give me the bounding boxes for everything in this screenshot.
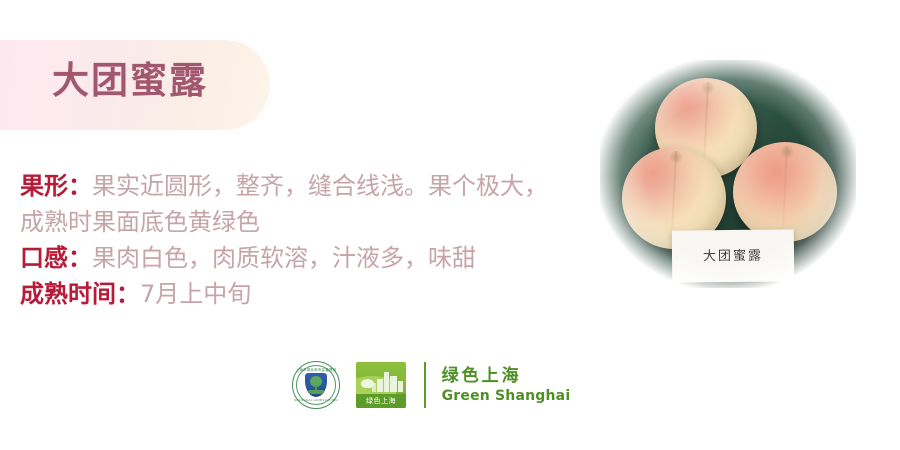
product-photo-image: 大团蜜露 bbox=[600, 60, 856, 288]
description-label-taste: 口感： bbox=[20, 244, 92, 272]
photo-label-card: 大团蜜露 bbox=[672, 229, 795, 282]
photo-label-card-text: 大团蜜露 bbox=[672, 244, 794, 264]
description-label-ripening-time: 成熟时间： bbox=[20, 280, 140, 308]
government-seal-icon: 上海市绿化和市容管理局 SHANGHAI LANDSCAPING bbox=[292, 361, 340, 409]
logo-caption: 绿色上海 bbox=[356, 394, 406, 408]
logo-building-icon bbox=[398, 381, 403, 392]
description-value-ripening-time: 7月上中旬 bbox=[140, 280, 251, 308]
peach-fruit bbox=[733, 142, 837, 242]
footer-branding: 上海市绿化和市容管理局 SHANGHAI LANDSCAPING 绿色上海 绿色… bbox=[292, 360, 570, 410]
seal-arc-bottom-text: SHANGHAI LANDSCAPING bbox=[293, 399, 339, 402]
seal-wave-icon bbox=[308, 390, 324, 394]
description-item-ripening-time: 成熟时间：7月上中旬 bbox=[20, 276, 560, 312]
description-item-fruit-shape: 果形：果实近圆形，整齐，缝合线浅。果个极大，成熟时果面底色黄绿色 bbox=[20, 168, 560, 240]
logo-building-icon bbox=[390, 376, 397, 392]
product-photo: 大团蜜露 bbox=[600, 60, 856, 288]
description-label-fruit-shape: 果形： bbox=[20, 172, 92, 200]
description-item-taste: 口感：果肉白色，肉质软溶，汁液多，味甜 bbox=[20, 240, 560, 276]
brand-name-chinese: 绿色上海 bbox=[442, 365, 571, 387]
description-value-taste: 果肉白色，肉质软溶，汁液多，味甜 bbox=[92, 244, 476, 272]
poster-root: 大团蜜露 果形：果实近圆形，整齐，缝合线浅。果个极大，成熟时果面底色黄绿色 口感… bbox=[0, 0, 900, 450]
brand-name-english: Green Shanghai bbox=[442, 387, 571, 405]
page-title: 大团蜜露 bbox=[52, 62, 208, 99]
description-block: 果形：果实近圆形，整齐，缝合线浅。果个极大，成熟时果面底色黄绿色 口感：果肉白色… bbox=[20, 168, 560, 312]
logo-tree-icon bbox=[361, 379, 374, 388]
peach-suture-line bbox=[671, 151, 677, 235]
brand-text-block: 绿色上海 Green Shanghai bbox=[442, 365, 571, 405]
green-shanghai-logo-icon: 绿色上海 bbox=[356, 362, 406, 408]
logo-building-icon bbox=[377, 379, 383, 392]
description-value-fruit-shape: 果实近圆形，整齐，缝合线浅。果个极大，成熟时果面底色黄绿色 bbox=[20, 172, 548, 236]
footer-divider bbox=[424, 362, 426, 408]
peach-suture-line bbox=[703, 82, 709, 164]
logo-building-icon bbox=[384, 372, 389, 392]
peach-suture-line bbox=[782, 146, 788, 228]
seal-arc-top-text: 上海市绿化和市容管理局 bbox=[293, 369, 339, 372]
